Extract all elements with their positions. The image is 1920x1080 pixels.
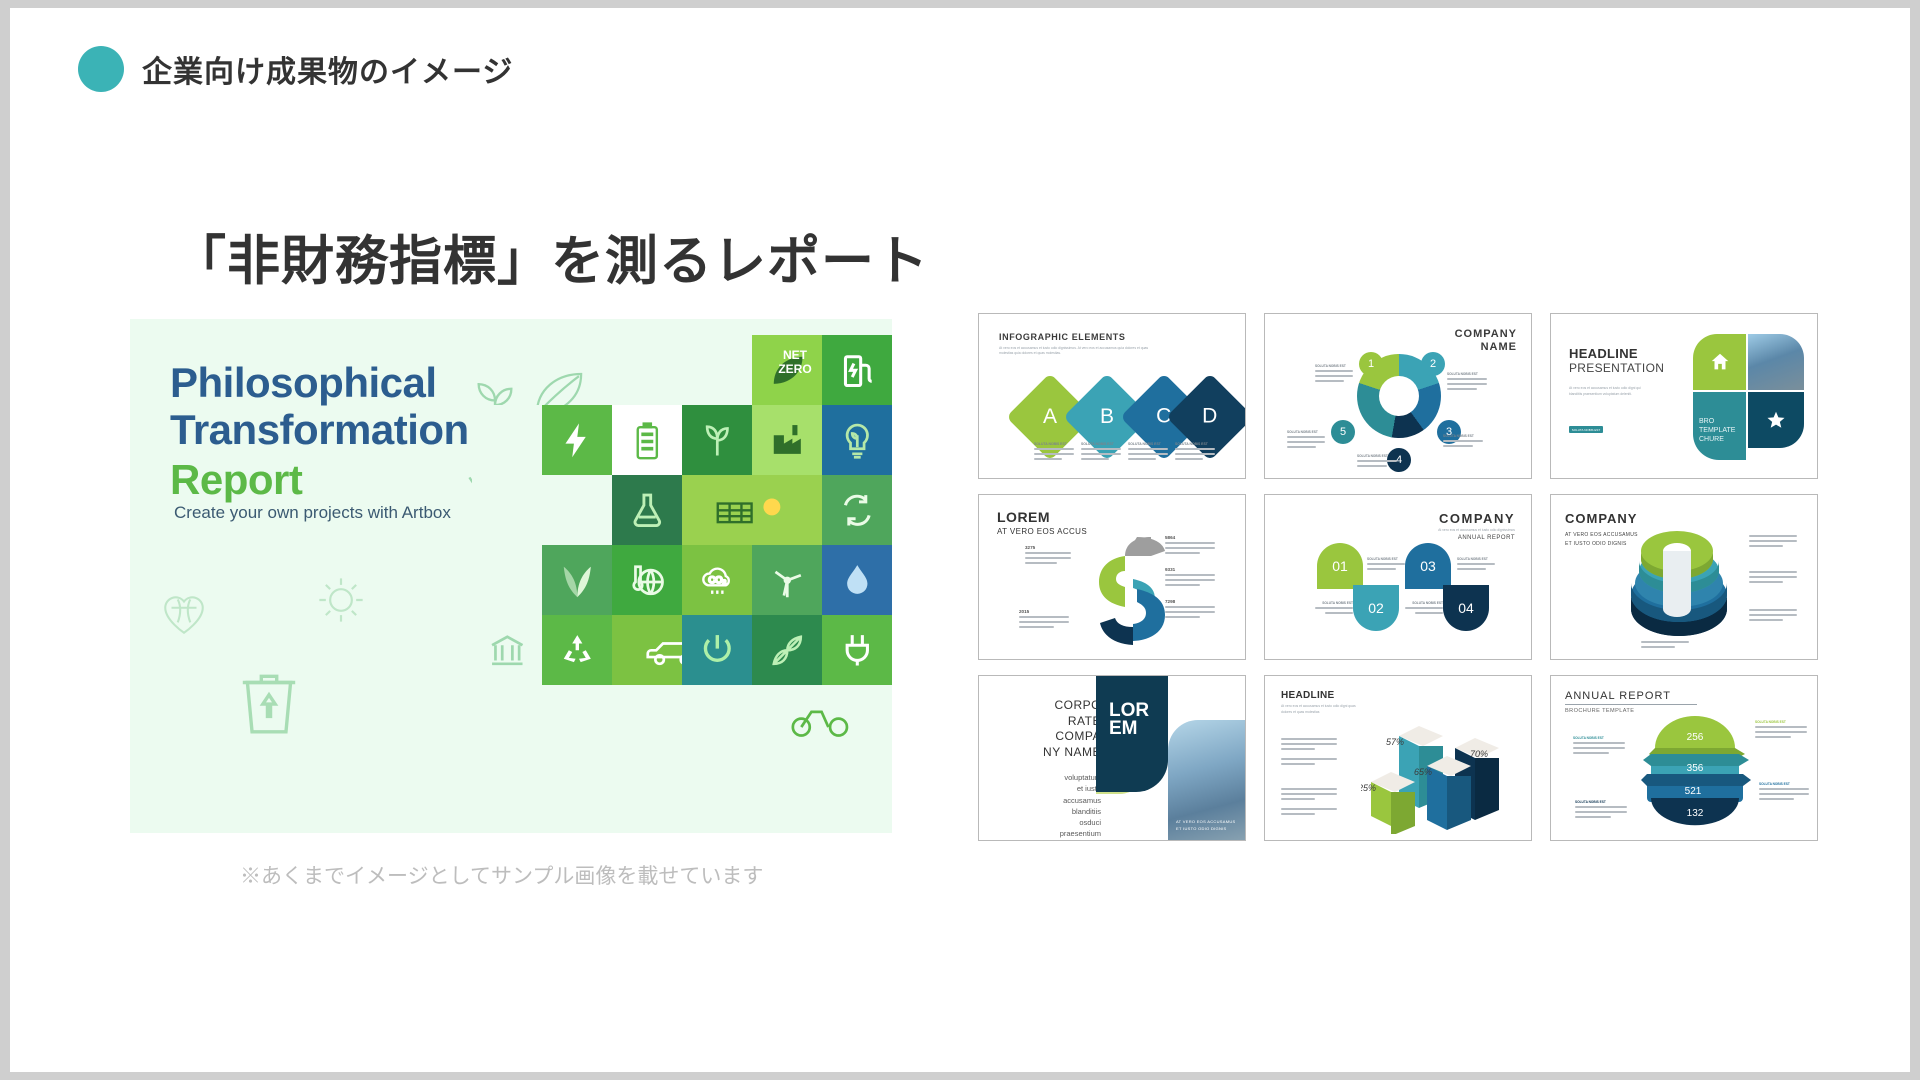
water-drop-icon xyxy=(822,545,892,615)
star-icon xyxy=(1748,392,1804,448)
card7-logo-line-2: EM xyxy=(1109,720,1149,738)
spacer-tile-2 xyxy=(472,405,542,475)
thumbnail-grid: INFOGRAPHIC ELEMENTS At vero eos et accu… xyxy=(978,313,1818,841)
spacer-tile-3 xyxy=(542,475,612,545)
page-title: 「非財務指標」を測るレポート xyxy=(173,219,929,295)
thumbnail-card-corporate-name[interactable]: CORPO RATE COMPA NY NAME voluptatum et i… xyxy=(978,675,1246,841)
card5-capsule-02: 02 xyxy=(1353,585,1399,631)
card6-caption-1 xyxy=(1749,535,1797,550)
slide-canvas: 企業向け成果物のイメージ 「非財務指標」を測るレポート Philosophica… xyxy=(10,8,1910,1072)
card8-headline: HEADLINE xyxy=(1281,690,1335,701)
card1-caption-4: SOLUTA NOBIS EST xyxy=(1175,442,1215,463)
eco-leaves-icon xyxy=(752,615,822,685)
card8-caption-1 xyxy=(1281,738,1337,753)
card9-caption-3: SOLUTA NOBIS EST xyxy=(1759,782,1809,803)
card8-caption-3 xyxy=(1281,788,1337,803)
card4-value-5: 2015 xyxy=(1019,609,1069,631)
card9-caption-1: SOLUTA NOBIS EST xyxy=(1573,736,1625,757)
card5-capsule-01: 01 xyxy=(1317,543,1363,589)
card6-caption-3 xyxy=(1749,609,1797,624)
card5-caption-4: SOLUTA NOBIS EST xyxy=(1405,601,1443,617)
header-title: 企業向け成果物のイメージ xyxy=(142,47,513,91)
svg-text:70%: 70% xyxy=(1470,749,1488,759)
battery-icon xyxy=(612,405,682,475)
hero-line-1: Philosophical xyxy=(170,359,469,406)
icon-mosaic: CO₂ xyxy=(472,319,892,833)
card5-body: At vero eos et accusamus et iusto odio d… xyxy=(1438,528,1515,532)
card2-bubble-1: 1 xyxy=(1359,352,1383,376)
header-bullet-icon xyxy=(78,46,124,92)
card8-caption-2 xyxy=(1281,758,1337,768)
card2-caption-3: SOLUTA NOBIS EST xyxy=(1443,434,1483,450)
bicycle-icon xyxy=(752,685,892,755)
card8-caption-4 xyxy=(1281,808,1337,818)
hero-sample-image: Philosophical Transformation Report Crea… xyxy=(130,319,892,833)
plant-sprout-icon xyxy=(682,405,752,475)
card3-headline: HEADLINE xyxy=(1569,346,1638,361)
card7-photo-caption: AT VERO EOS ACCUSAMUS ET IUSTO ODIO DIGN… xyxy=(1176,819,1238,832)
power-button-icon xyxy=(682,615,752,685)
card5-capsule-03: 03 xyxy=(1405,543,1451,589)
card2-caption-4: SOLUTA NOBIS EST xyxy=(1357,454,1397,470)
card6-3d-donut xyxy=(1619,531,1739,647)
card9-caption-2: SOLUTA NOBIS EST xyxy=(1755,720,1807,741)
thumbnail-card-lorem-dollar[interactable]: LOREM AT VERO EOS ACCUS 3275 5864 9331 xyxy=(978,494,1246,660)
card6-caption-4 xyxy=(1641,641,1689,651)
flask-icon xyxy=(612,475,682,545)
card5-subhead: ANNUAL REPORT xyxy=(1438,535,1515,541)
card1-body: At vero eos et accusamus et iusto odio d… xyxy=(999,346,1149,357)
card5-capsule-04: 04 xyxy=(1443,585,1489,631)
card4-value-4: 7298 xyxy=(1165,599,1215,621)
hero-text-block: Philosophical Transformation Report Crea… xyxy=(170,359,469,523)
card9-caption-4: SOLUTA NOBIS EST xyxy=(1575,800,1627,821)
thumbnail-card-annual-report-sphere[interactable]: ANNUAL REPORT BROCHURE TEMPLATE 256 356 … xyxy=(1550,675,1818,841)
card4-value-3: 9331 xyxy=(1165,567,1215,589)
card3-cta-button[interactable]: SOLUTA NOBIS EST xyxy=(1569,426,1603,433)
power-plug-icon xyxy=(822,615,892,685)
card2-bubble-2: 2 xyxy=(1421,352,1445,376)
trash-bin-icon xyxy=(238,664,300,738)
svg-text:132: 132 xyxy=(1687,808,1704,819)
card2-caption-1: SOLUTA NOBIS EST xyxy=(1315,364,1353,385)
net-zero-line-1: NET xyxy=(756,349,834,363)
svg-text:521: 521 xyxy=(1685,786,1702,797)
card4-value-2: 5864 xyxy=(1165,535,1215,557)
heart-globe-icon xyxy=(158,589,210,639)
card1-headline: INFOGRAPHIC ELEMENTS xyxy=(999,332,1126,342)
card5-headline: COMPANY xyxy=(1438,511,1515,526)
thumbnail-card-company-capsules[interactable]: COMPANY At vero eos et accusamus et iust… xyxy=(1264,494,1532,660)
card2-bubble-5: 5 xyxy=(1331,420,1355,444)
card2-headline-1: COMPANY xyxy=(1455,328,1517,341)
plant-leaf-icon xyxy=(542,545,612,615)
hero-subtitle: Create your own projects with Artbox xyxy=(174,503,469,523)
card6-caption-2 xyxy=(1749,571,1797,586)
thumbnail-card-headline-presentation[interactable]: HEADLINE PRESENTATION At vero eos et acc… xyxy=(1550,313,1818,479)
card1-caption-1: SOLUTA NOBIS EST xyxy=(1034,442,1074,463)
card8-3d-bar-chart: 57% 70% 65% 25% xyxy=(1361,716,1501,834)
wind-turbine-icon xyxy=(752,545,822,615)
image-disclaimer-caption: ※あくまでイメージとしてサンプル画像を載せています xyxy=(240,860,763,890)
svg-text:256: 256 xyxy=(1687,732,1704,743)
card6-headline: COMPANY xyxy=(1565,511,1637,526)
hero-line-2: Transformation xyxy=(170,406,469,453)
svg-text:CO₂: CO₂ xyxy=(708,575,726,585)
lightbulb-leaf-icon xyxy=(822,405,892,475)
card3-photo-city xyxy=(1748,334,1804,390)
card3-block-label: BRO TEMPLATE CHURE xyxy=(1693,392,1746,460)
card5-caption-3: SOLUTA NOBIS EST xyxy=(1457,557,1495,573)
net-zero-line-2: ZERO xyxy=(756,363,834,377)
thermometer-globe-icon xyxy=(612,545,682,615)
card1-caption-3: SOLUTA NOBIS EST xyxy=(1128,442,1168,463)
card8-body: At vero eos et accusamus et iusto odio d… xyxy=(1281,704,1365,716)
svg-text:25%: 25% xyxy=(1361,783,1376,793)
card5-caption-1: SOLUTA NOBIS EST xyxy=(1367,557,1405,573)
svg-text:356: 356 xyxy=(1687,763,1704,774)
gear-leaf-icon xyxy=(315,574,367,626)
hero-line-3: Report xyxy=(170,455,469,505)
bank-icon xyxy=(472,615,542,685)
card2-caption-5: SOLUTA NOBIS EST xyxy=(1287,430,1325,451)
thumbnail-card-infographic-elements[interactable]: INFOGRAPHIC ELEMENTS At vero eos et accu… xyxy=(978,313,1246,479)
card9-layered-sphere: 256 356 521 132 xyxy=(1637,714,1753,834)
card1-caption-2: SOLUTA NOBIS EST xyxy=(1081,442,1121,463)
card7-body: voluptatum et iusto accusamus blanditiis… xyxy=(991,772,1101,841)
recycling-icon xyxy=(542,615,612,685)
card2-caption-2: SOLUTA NOBIS EST xyxy=(1447,372,1487,393)
thumbnail-card-headline-3d-bars[interactable]: HEADLINE At vero eos et accusamus et ius… xyxy=(1264,675,1532,841)
spacer-tile xyxy=(472,475,542,545)
svg-text:57%: 57% xyxy=(1386,737,1404,747)
card9-headline: ANNUAL REPORT xyxy=(1565,690,1697,705)
svg-text:65%: 65% xyxy=(1414,767,1432,777)
card9-subhead: BROCHURE TEMPLATE xyxy=(1565,708,1634,714)
card3-body: At vero eos et accusamus et iusto odio d… xyxy=(1569,386,1643,398)
solar-panel-icon xyxy=(682,475,822,545)
card4-headline: LOREM xyxy=(997,509,1050,525)
card7-logo-panel: LOR EM xyxy=(1096,676,1168,792)
recycle-arrows-icon xyxy=(822,475,892,545)
card4-subhead: AT VERO EOS ACCUS xyxy=(997,527,1087,536)
card5-caption-2: SOLUTA NOBIS EST xyxy=(1315,601,1353,617)
card7-photo: AT VERO EOS ACCUSAMUS ET IUSTO ODIO DIGN… xyxy=(1168,720,1246,841)
card3-subhead: PRESENTATION xyxy=(1569,361,1664,375)
card2-headline-2: NAME xyxy=(1455,341,1517,354)
card7-headline: CORPO RATE COMPA NY NAME xyxy=(991,698,1101,760)
thumbnail-card-company-donut[interactable]: COMPANY NAME 1 2 3 4 5 SOLUTA NOBIS EST … xyxy=(1264,313,1532,479)
thumbnail-card-company-3d-donut[interactable]: COMPANY AT VERO EOS ACCUSAMUS ET IUSTO O… xyxy=(1550,494,1818,660)
house-icon xyxy=(1693,334,1746,390)
card4-value-1: 3275 xyxy=(1025,545,1071,567)
lightning-bolt-icon xyxy=(542,405,612,475)
co2-cloud-icon: CO₂ xyxy=(682,545,752,615)
factory-icon xyxy=(752,405,822,475)
slide-header: 企業向け成果物のイメージ xyxy=(78,46,513,92)
